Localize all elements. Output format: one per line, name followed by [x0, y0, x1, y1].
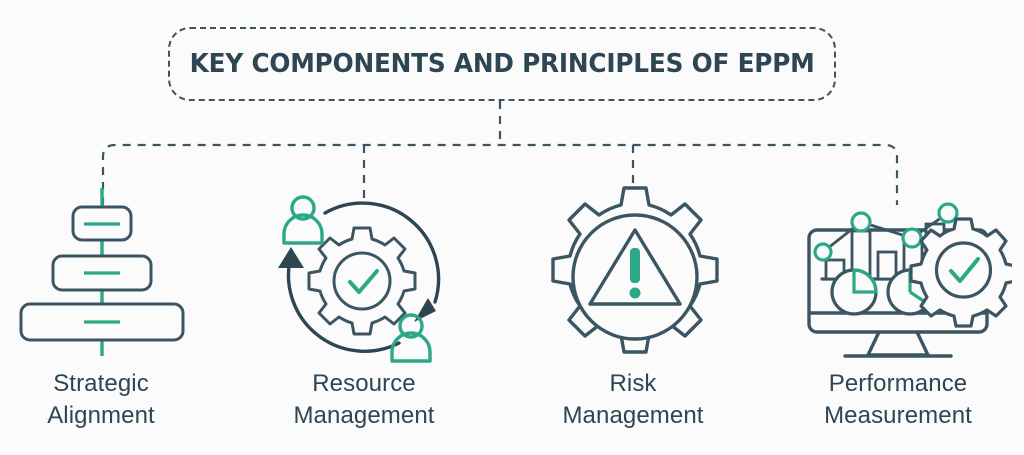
icon-performance-measurement: [800, 182, 1012, 368]
gear-warning-triangle-icon: [540, 182, 730, 372]
icon-strategic-alignment: [14, 186, 190, 366]
arrow-head-up: [278, 247, 304, 268]
page-title: KEY COMPONENTS AND PRINCIPLES OF EPPM: [190, 49, 815, 79]
monitor-charts-gear-icon: [800, 182, 1012, 368]
gear-check-people-cycle-icon: [268, 186, 462, 366]
node-label-line1: Resource: [249, 368, 479, 400]
node-label-line1: Strategic: [0, 368, 216, 400]
node-label-resource-management: Resource Management: [249, 368, 479, 431]
node-label-strategic-alignment: Strategic Alignment: [0, 368, 216, 431]
node-label-line1: Performance: [783, 368, 1013, 400]
connector-bus: [103, 145, 897, 205]
node-label-line2: Management: [518, 400, 748, 432]
page-title-box: KEY COMPONENTS AND PRINCIPLES OF EPPM: [168, 27, 836, 101]
node-label-risk-management: Risk Management: [518, 368, 748, 431]
person-icon-top: [284, 197, 322, 243]
pyramid-stack-icon: [14, 186, 190, 366]
node-label-line2: Measurement: [783, 400, 1013, 432]
node-label-line2: Alignment: [0, 400, 216, 432]
exclamation-mark: [630, 248, 641, 299]
icon-resource-management: [268, 186, 462, 366]
pie-chart-1: [832, 270, 876, 314]
node-label-performance-measurement: Performance Measurement: [783, 368, 1013, 431]
node-label-line1: Risk: [518, 368, 748, 400]
node-label-line2: Management: [249, 400, 479, 432]
icon-risk-management: [540, 182, 730, 372]
infographic-canvas: KEY COMPONENTS AND PRINCIPLES OF EPPM: [0, 0, 1024, 455]
gear-check-badge: [911, 219, 1012, 326]
